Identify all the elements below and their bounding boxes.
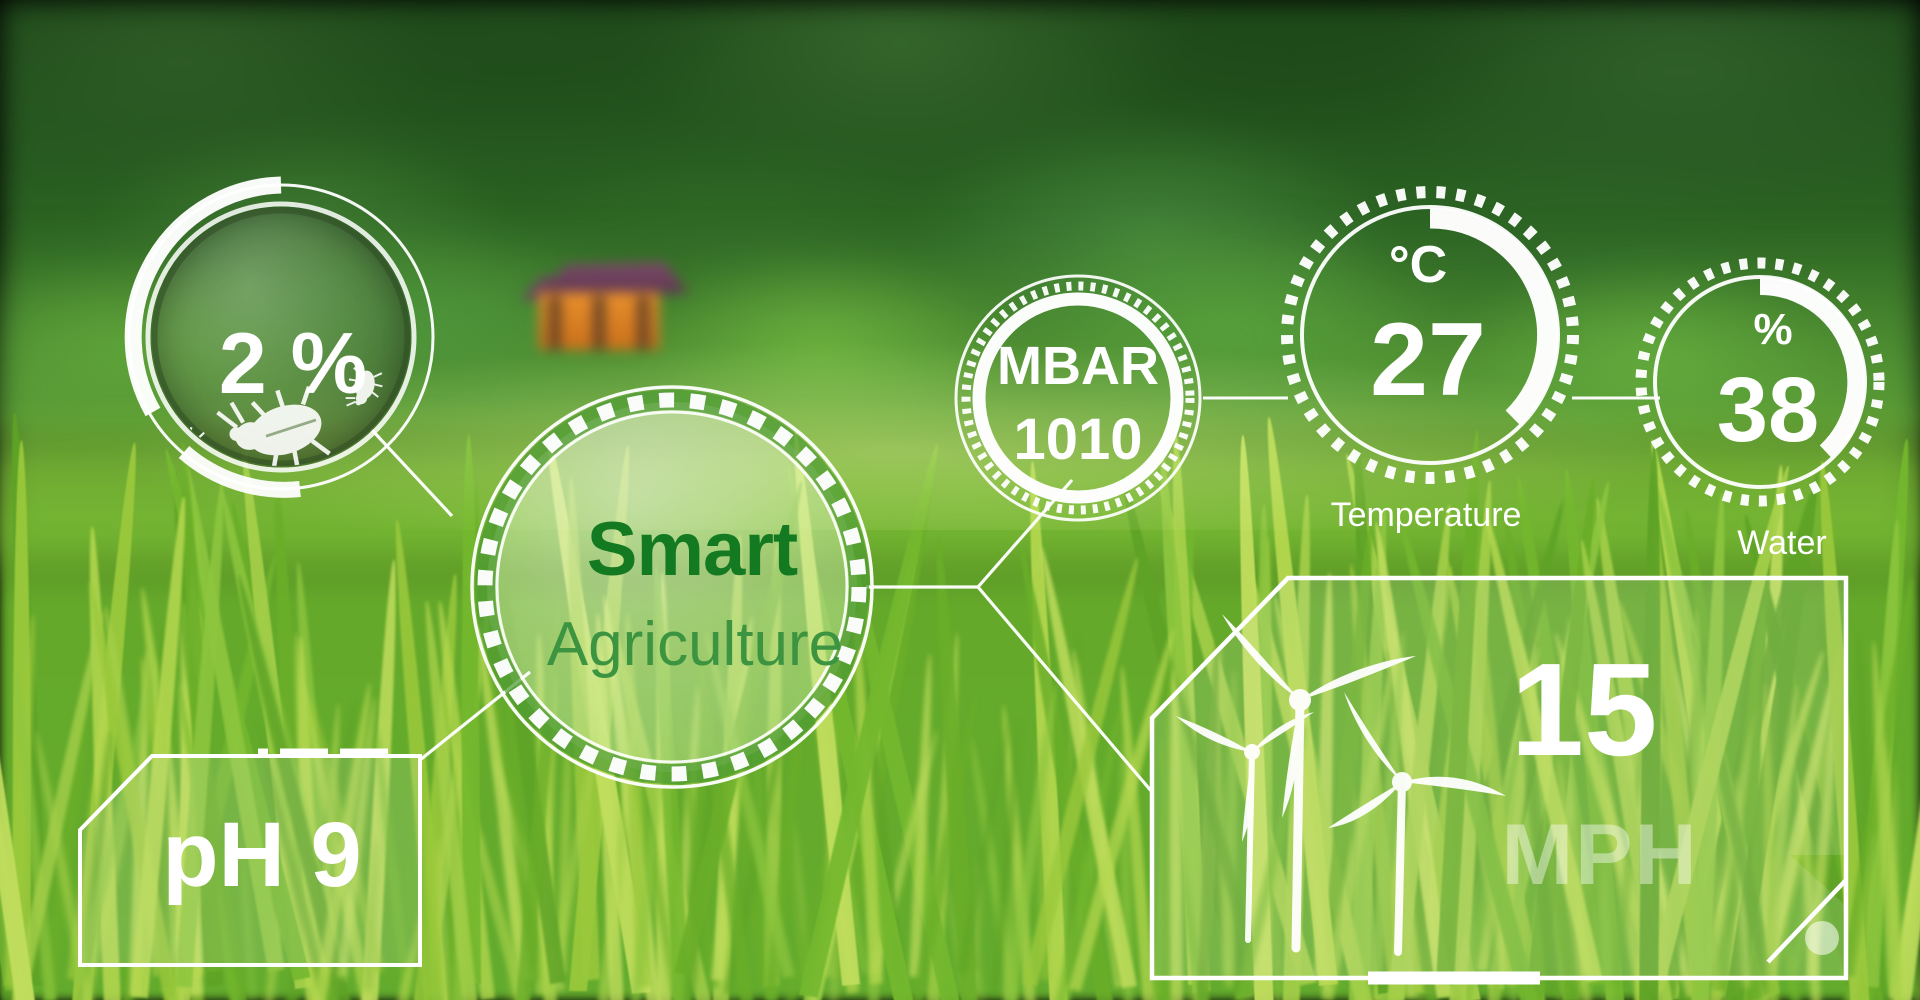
widget-pressure[interactable] — [956, 276, 1200, 520]
wind-value: 15 — [1511, 644, 1658, 776]
water-value: 38 — [1717, 364, 1819, 456]
ph-value: pH 9 — [162, 809, 361, 901]
wind-panel-fill — [1152, 578, 1846, 978]
pressure-tick-ring — [966, 286, 1190, 510]
smart-agriculture-scene: 2 % Smart Agriculture MBAR 1010 °C 27 Te… — [0, 0, 1920, 1000]
pressure-outer-ring — [956, 276, 1200, 520]
water-label: Water — [1737, 526, 1826, 560]
temperature-label: Temperature — [1331, 498, 1522, 532]
temperature-value: 27 — [1370, 308, 1486, 412]
wind-panel-dot — [1805, 921, 1839, 955]
pest-value: 2 % — [219, 321, 367, 407]
connector-pest-to-smart — [372, 430, 452, 516]
brand-line-2: Agriculture — [547, 614, 843, 676]
pressure-value: 1010 — [1013, 411, 1142, 469]
water-unit: % — [1753, 308, 1792, 352]
pressure-unit: MBAR — [997, 339, 1159, 393]
connector-node-to-wind — [978, 587, 1152, 792]
brand-line-1: Smart — [587, 512, 797, 588]
widget-wind[interactable] — [1152, 578, 1846, 978]
hud-overlay: 2 % Smart Agriculture MBAR 1010 °C 27 Te… — [0, 0, 1920, 1000]
wind-unit: MPH — [1501, 812, 1698, 898]
temperature-unit: °C — [1389, 239, 1447, 291]
